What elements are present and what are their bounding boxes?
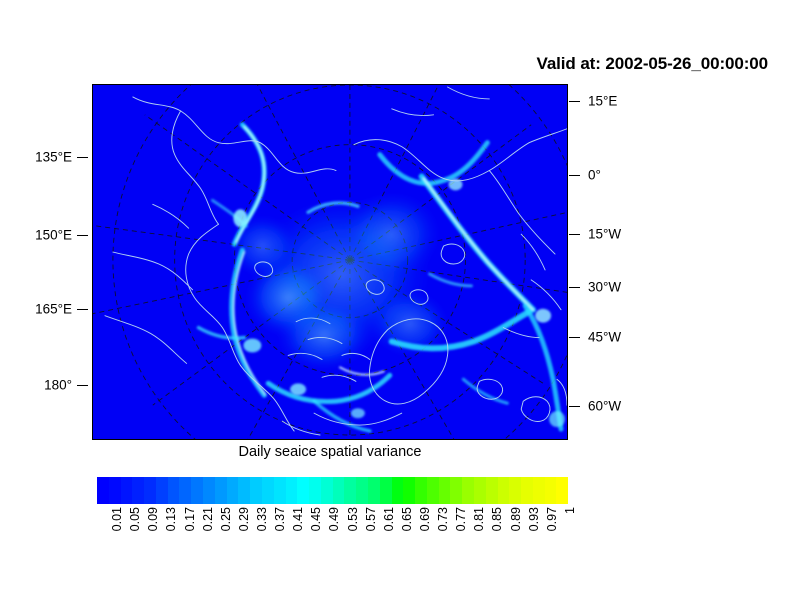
axis-label-left-0: 135°E xyxy=(0,150,72,165)
colorbar-swatch-27 xyxy=(415,477,427,504)
map-canvas xyxy=(93,85,567,439)
colorbar-label-24: 0.97 xyxy=(545,507,559,531)
axis-label-left-2: 165°E xyxy=(0,302,72,317)
colorbar-swatch-11 xyxy=(227,477,239,504)
colorbar-swatch-33 xyxy=(486,477,498,504)
colorbar-swatch-26 xyxy=(403,477,415,504)
tick-mark-right-5 xyxy=(569,406,580,407)
colorbar-swatch-5 xyxy=(156,477,168,504)
colorbar-label-20: 0.81 xyxy=(472,507,486,531)
tick-mark-right-1 xyxy=(569,175,580,176)
colorbar-swatch-39 xyxy=(556,477,568,504)
page-title: Valid at: 2002-05-26_00:00:00 xyxy=(300,54,768,74)
colorbar-label-12: 0.49 xyxy=(327,507,341,531)
colorbar-swatch-20 xyxy=(333,477,345,504)
colorbar-swatch-12 xyxy=(238,477,250,504)
colorbar-label-21: 0.85 xyxy=(490,507,504,531)
colorbar-swatch-15 xyxy=(274,477,286,504)
colorbar-swatch-3 xyxy=(132,477,144,504)
axis-label-right-4: 45°W xyxy=(588,330,621,345)
tick-mark-left-2 xyxy=(77,309,88,310)
colorbar-label-5: 0.21 xyxy=(201,507,215,531)
colorbar-label-7: 0.29 xyxy=(237,507,251,531)
axis-label-right-5: 60°W xyxy=(588,399,621,414)
colorbar-label-0: 0.01 xyxy=(110,507,124,531)
colorbar-label-15: 0.61 xyxy=(382,507,396,531)
colorbar-swatch-2 xyxy=(121,477,133,504)
tick-mark-left-1 xyxy=(77,235,88,236)
colorbar-swatch-28 xyxy=(427,477,439,504)
colorbar-label-14: 0.57 xyxy=(364,507,378,531)
tick-mark-left-3 xyxy=(77,385,88,386)
tick-mark-right-2 xyxy=(569,234,580,235)
colorbar-swatch-35 xyxy=(509,477,521,504)
colorbar-swatch-7 xyxy=(179,477,191,504)
colorbar-swatch-10 xyxy=(215,477,227,504)
axis-label-right-2: 15°W xyxy=(588,227,621,242)
colorbar-swatch-22 xyxy=(356,477,368,504)
colorbar-swatch-32 xyxy=(474,477,486,504)
colorbar-swatch-16 xyxy=(286,477,298,504)
colorbar-label-6: 0.25 xyxy=(219,507,233,531)
colorbar-label-11: 0.45 xyxy=(309,507,323,531)
colorbar-swatch-34 xyxy=(498,477,510,504)
colorbar-label-18: 0.73 xyxy=(436,507,450,531)
tick-mark-left-0 xyxy=(77,157,88,158)
colorbar-swatch-14 xyxy=(262,477,274,504)
colorbar-swatch-6 xyxy=(168,477,180,504)
colorbar-swatch-37 xyxy=(533,477,545,504)
colorbar-label-2: 0.09 xyxy=(146,507,160,531)
colorbar-label-22: 0.89 xyxy=(509,507,523,531)
axis-label-right-0: 15°E xyxy=(588,94,617,109)
colorbar-labels: 0.010.050.090.130.170.210.250.290.330.37… xyxy=(97,507,568,567)
colorbar-label-19: 0.77 xyxy=(454,507,468,531)
axis-label-left-3: 180° xyxy=(0,378,72,393)
tick-mark-right-3 xyxy=(569,287,580,288)
colorbar-label-10: 0.41 xyxy=(291,507,305,531)
colorbar-swatch-21 xyxy=(344,477,356,504)
colorbar-swatch-9 xyxy=(203,477,215,504)
colorbar-label-4: 0.17 xyxy=(183,507,197,531)
axis-label-left-1: 150°E xyxy=(0,228,72,243)
colorbar-label-3: 0.13 xyxy=(164,507,178,531)
colorbar-label-16: 0.65 xyxy=(400,507,414,531)
figure-root: Valid at: 2002-05-26_00:00:00 xyxy=(0,0,792,612)
tick-mark-right-4 xyxy=(569,337,580,338)
colorbar-swatch-23 xyxy=(368,477,380,504)
colorbar-swatch-31 xyxy=(462,477,474,504)
colorbar-swatch-24 xyxy=(380,477,392,504)
colorbar-swatch-30 xyxy=(450,477,462,504)
colorbar-label-8: 0.33 xyxy=(255,507,269,531)
colorbar-swatch-19 xyxy=(321,477,333,504)
colorbar-swatch-25 xyxy=(392,477,404,504)
colorbar-label-9: 0.37 xyxy=(273,507,287,531)
colorbar-swatch-38 xyxy=(545,477,557,504)
colorbar-swatch-4 xyxy=(144,477,156,504)
colorbar-label-1: 0.05 xyxy=(128,507,142,531)
colorbar-label-17: 0.69 xyxy=(418,507,432,531)
colorbar-swatch-36 xyxy=(521,477,533,504)
colorbar-label-23: 0.93 xyxy=(527,507,541,531)
colorbar-label-25: 1 xyxy=(563,507,577,514)
map-panel xyxy=(92,84,568,440)
colorbar xyxy=(97,477,568,504)
axis-label-right-3: 30°W xyxy=(588,280,621,295)
colorbar-swatch-18 xyxy=(309,477,321,504)
colorbar-swatch-13 xyxy=(250,477,262,504)
axis-label-right-1: 0° xyxy=(588,168,601,183)
colorbar-swatch-29 xyxy=(439,477,451,504)
colorbar-swatch-1 xyxy=(109,477,121,504)
colorbar-swatch-8 xyxy=(191,477,203,504)
colorbar-swatch-0 xyxy=(97,477,109,504)
tick-mark-right-0 xyxy=(569,101,580,102)
colorbar-label-13: 0.53 xyxy=(346,507,360,531)
colorbar-swatch-17 xyxy=(297,477,309,504)
colorbar-caption: Daily seaice spatial variance xyxy=(92,444,568,460)
